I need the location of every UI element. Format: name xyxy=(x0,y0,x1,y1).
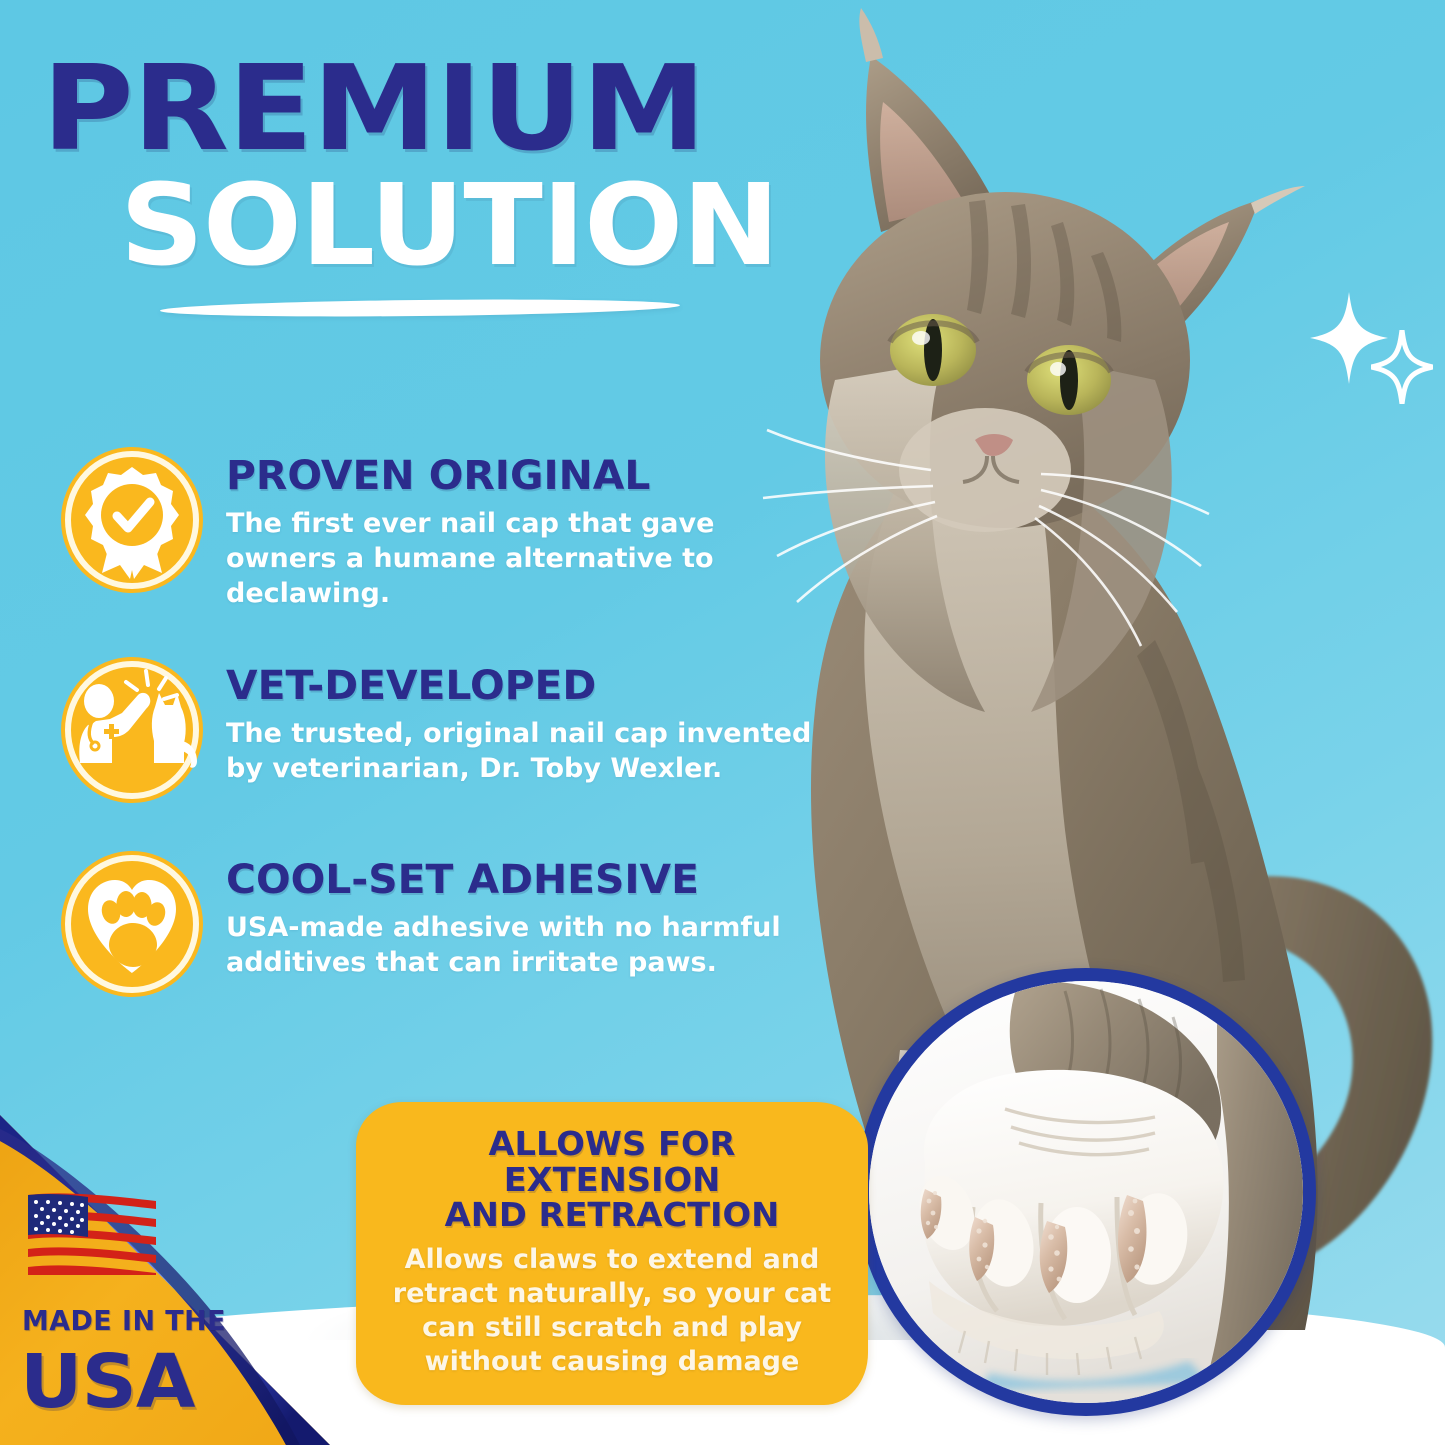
headline-line-premium: PREMIUM xyxy=(42,52,879,164)
feature-title: PROVEN ORIGINAL xyxy=(226,455,871,497)
sparkle-small-outline-icon xyxy=(1371,330,1433,404)
callout-title-line-2: AND RETRACTION xyxy=(377,1197,846,1233)
vet-high-five-cat-icon xyxy=(58,655,206,805)
callout-body-text: Allows claws to extend and retract natur… xyxy=(382,1243,842,1379)
feature-item-vet-developed: VET-DEVELOPED The trusted, original nail… xyxy=(58,655,858,805)
award-ribbon-check-icon xyxy=(58,445,206,595)
feature-description: The trusted, original nail cap invented … xyxy=(226,716,816,786)
feature-description: USA-made adhesive with no harmful additi… xyxy=(226,910,816,980)
product-feature-poster: PREMIUM SOLUTION xyxy=(0,0,1445,1445)
page-title: PREMIUM SOLUTION xyxy=(42,52,832,282)
cat-paw-closeup-magnifier xyxy=(856,968,1316,1416)
heart-paw-print-icon xyxy=(58,849,206,999)
callout-title: ALLOWS FOR EXTENSION AND RETRACTION xyxy=(377,1126,846,1233)
feature-title: COOL-SET ADHESIVE xyxy=(226,859,871,901)
feature-item-cool-set-adhesive: COOL-SET ADHESIVE USA-made adhesive with… xyxy=(58,849,858,999)
feature-title: VET-DEVELOPED xyxy=(226,665,871,707)
feature-list: PROVEN ORIGINAL The first ever nail cap … xyxy=(58,445,858,1043)
usa-label: USA xyxy=(20,1347,194,1417)
made-in-usa-corner-badge: MADE IN THE USA xyxy=(0,1115,330,1445)
callout-title-line-1: ALLOWS FOR EXTENSION xyxy=(377,1126,846,1197)
headline-line-solution: SOLUTION xyxy=(120,170,860,282)
made-in-the-label: MADE IN THE xyxy=(22,1304,226,1337)
feature-description: The first ever nail cap that gave owners… xyxy=(226,506,816,611)
usa-flag-icon xyxy=(28,1193,156,1275)
lens-divider-icon xyxy=(160,297,680,318)
callout-extension-retraction: ALLOWS FOR EXTENSION AND RETRACTION Allo… xyxy=(356,1102,868,1405)
feature-item-proven-original: PROVEN ORIGINAL The first ever nail cap … xyxy=(58,445,858,611)
